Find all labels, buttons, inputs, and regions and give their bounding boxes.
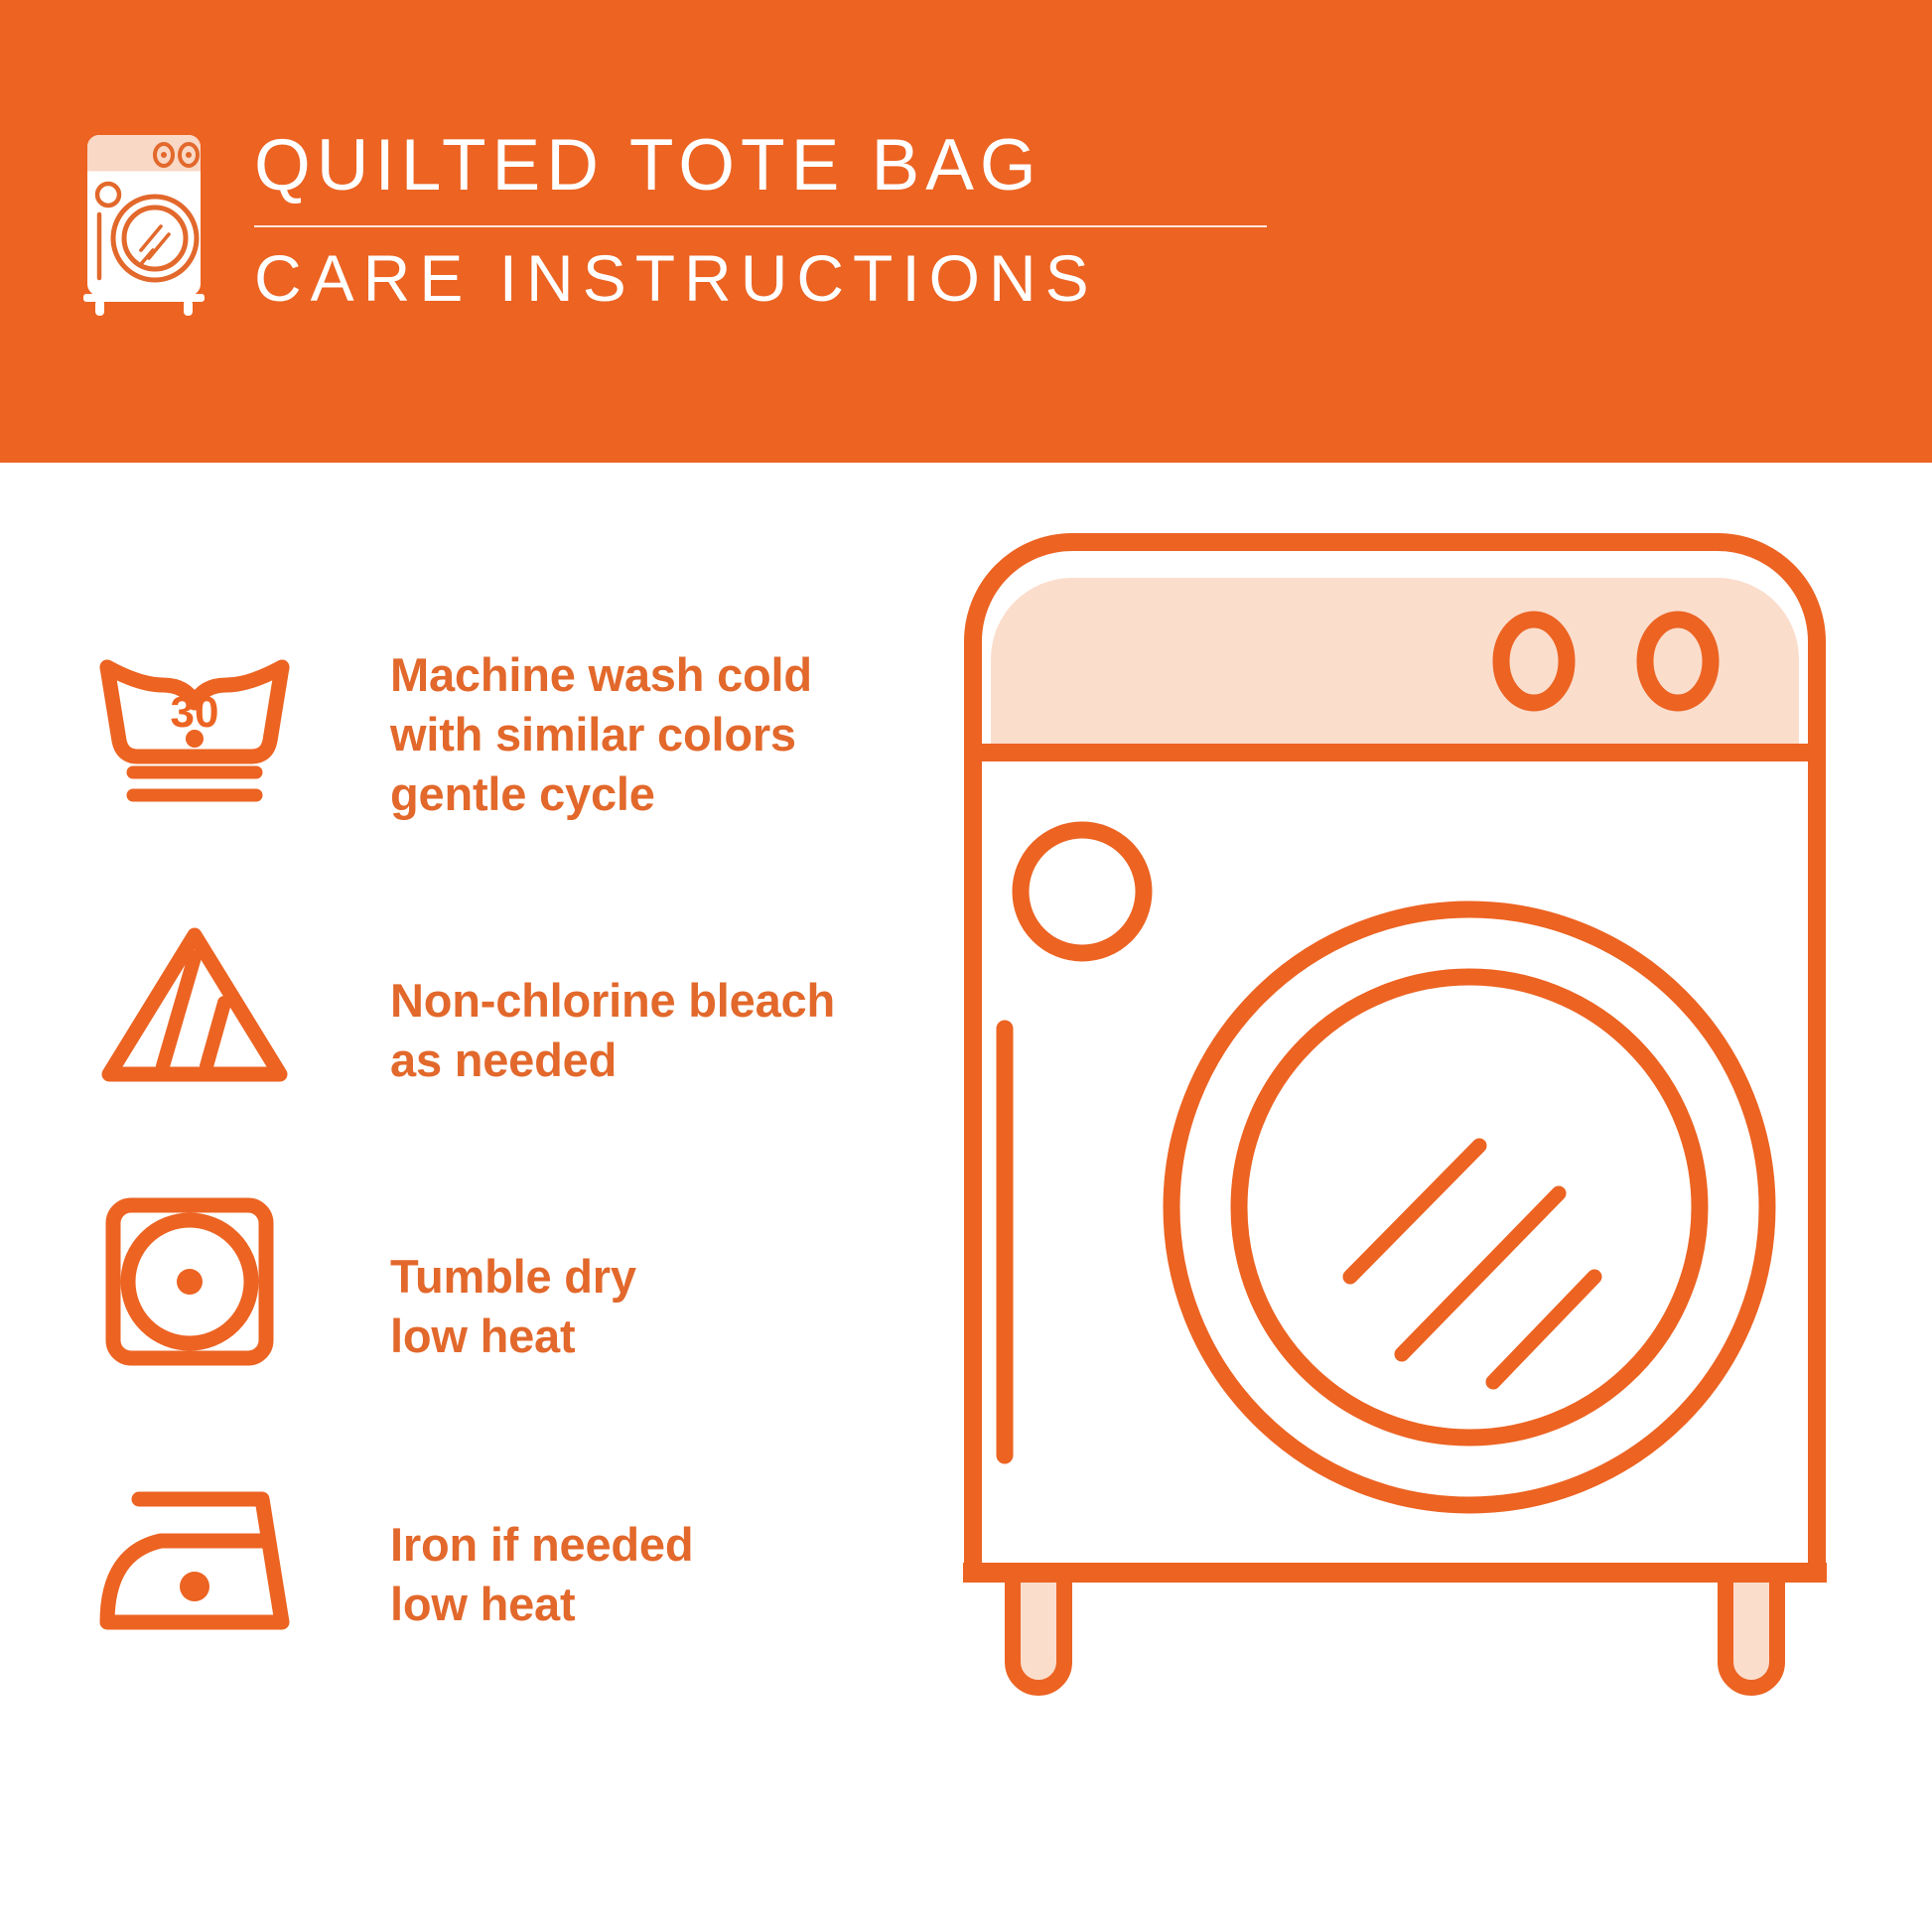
title-divider (254, 225, 1267, 227)
content-area: 30 Machine wash cold with similar colors… (0, 463, 1932, 1932)
page-header: QUILTED TOTE BAG CARE INSTRUCTIONS (0, 0, 1932, 463)
iron-icon (95, 1475, 309, 1644)
care-label-line-1: Iron if needed (390, 1515, 693, 1575)
care-label-line-1: Non-chlorine bleach (390, 971, 835, 1031)
care-label-line-2: low heat (390, 1307, 636, 1366)
care-label-line-2: as needed (390, 1031, 835, 1090)
leg-right (1725, 1575, 1777, 1688)
care-instructions-list: 30 Machine wash cold with similar colors… (95, 641, 919, 1753)
care-item-iron: Iron if needed low heat (95, 1475, 919, 1753)
title-block: QUILTED TOTE BAG CARE INSTRUCTIONS (254, 127, 1267, 311)
care-item-label: Non-chlorine bleach as needed (309, 919, 835, 1090)
care-label-line-3: gentle cycle (390, 764, 812, 824)
washing-machine-illustration (953, 522, 1866, 1833)
care-item-label: Tumble dry low heat (309, 1197, 636, 1366)
care-label-line-2: with similar colors (390, 705, 812, 764)
page-title-line1: QUILTED TOTE BAG (254, 129, 1267, 202)
care-item-label: Iron if needed low heat (309, 1475, 693, 1634)
care-label-line-2: low heat (390, 1575, 693, 1634)
page-title-line2: CARE INSTRUCTIONS (254, 245, 1267, 311)
care-item-machine-wash: 30 Machine wash cold with similar colors… (95, 641, 919, 919)
header-inner: QUILTED TOTE BAG CARE INSTRUCTIONS (69, 127, 1267, 316)
care-item-tumble-dry: Tumble dry low heat (95, 1197, 919, 1475)
wash-tub-30-icon: 30 (95, 641, 309, 810)
washing-machine-icon (69, 127, 218, 316)
wash-temperature-value: 30 (171, 688, 219, 737)
care-item-label: Machine wash cold with similar colors ge… (309, 641, 812, 824)
leg-left (1013, 1575, 1064, 1688)
tumble-dry-icon (95, 1197, 309, 1366)
bleach-triangle-icon (95, 919, 309, 1088)
care-label-line-1: Machine wash cold (390, 645, 812, 705)
care-label-line-1: Tumble dry (390, 1247, 636, 1307)
care-item-bleach: Non-chlorine bleach as needed (95, 919, 919, 1197)
